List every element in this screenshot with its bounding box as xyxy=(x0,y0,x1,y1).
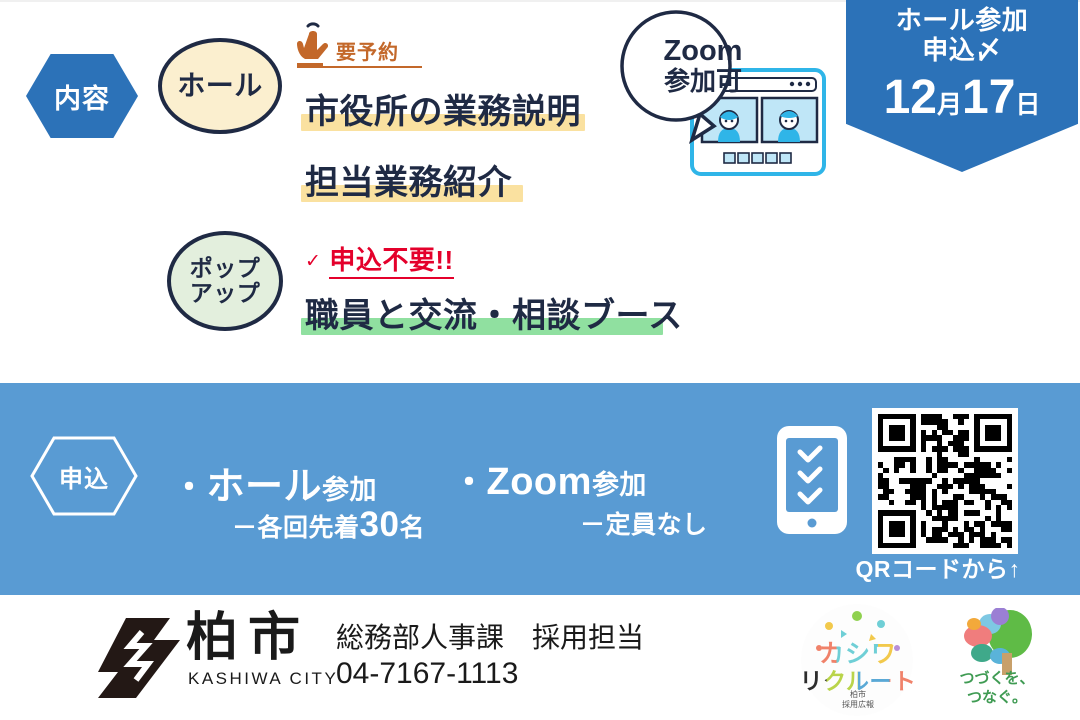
dash-icon: － xyxy=(580,511,606,539)
qr-code[interactable] xyxy=(872,408,1018,554)
content-badge-hexagon: 内容 xyxy=(26,54,138,138)
zoom-bubble-line2: 参加可 xyxy=(648,67,758,95)
apply-hall-main: ホール xyxy=(207,466,323,508)
apply-zoom-suffix: 参加 xyxy=(592,470,647,500)
apply-option-hall: ・ホール参加 xyxy=(172,455,377,510)
hall-headline-2: 担当業務紹介 xyxy=(305,155,512,204)
apply-badge-label: 申込 xyxy=(30,436,138,516)
tsuzuku-caption-line1: つづくを、 xyxy=(938,670,1056,689)
deadline-month-number: 12 xyxy=(884,71,937,124)
qr-code-matrix xyxy=(878,414,1012,548)
tsuzuku-caption: つづくを、 つなぐ。 xyxy=(938,670,1056,708)
contact-telephone: 04-7167-1113 xyxy=(336,655,644,693)
tsuzuku-tsunagu-logo: つづくを、 つなぐ。 xyxy=(938,608,1056,714)
ribbon-date: 12月17日 xyxy=(846,70,1078,125)
hall-label-text: ホール xyxy=(177,71,263,101)
hall-headline-1-text: 市役所の業務説明 xyxy=(305,93,581,131)
apply-option-zoom: ・Zoom参加 xyxy=(452,455,647,504)
ribbon-line2: 申込〆 xyxy=(846,36,1078,66)
reservation-underline xyxy=(316,66,422,68)
bullet-icon: ・ xyxy=(452,464,487,502)
kashiwa-recruit-logo: カシワ リクルート 柏市 採用広報 xyxy=(795,604,921,716)
zoom-illustration: Zoom 参加可 xyxy=(614,8,844,198)
apply-zoom-main: Zoom xyxy=(487,461,592,503)
city-name-jp: 柏市 xyxy=(186,612,338,664)
contact-department: 総務部人事課 採用担当 xyxy=(336,620,644,655)
reservation-required-note: 要予約 xyxy=(294,22,424,74)
flyer-page: 内容 ホール 要予約 市役所の業務説明 担当業務紹介 ポップ アップ ✓ 申込不… xyxy=(0,0,1080,720)
popup-label-line1: ポップ xyxy=(190,256,261,281)
tree-logo-icon xyxy=(938,608,1056,678)
no-application-needed-note: ✓ 申込不要!! xyxy=(305,240,454,277)
popup-headline: 職員と交流・相談ブース xyxy=(305,288,683,337)
hall-headline-1: 市役所の業務説明 xyxy=(305,84,581,133)
city-name-en: KASHIWA CITY xyxy=(188,670,338,687)
apply-zoom-detail-text: 定員なし xyxy=(606,511,708,539)
hall-label-ellipse: ホール xyxy=(158,38,282,134)
kashiwa-city-logo-mark-icon xyxy=(96,616,182,700)
apply-option-hall-detail: －各回先着30名 xyxy=(232,505,425,545)
recruit-logo-sub: 柏市 採用広報 xyxy=(795,690,921,709)
bullet-icon: ・ xyxy=(172,469,207,507)
apply-option-zoom-detail: －定員なし xyxy=(580,505,708,541)
apply-hall-capacity: 30 xyxy=(360,505,400,544)
deadline-month-unit: 月 xyxy=(937,91,962,119)
zoom-bubble-text: Zoom 参加可 xyxy=(648,36,758,95)
deadline-day-unit: 日 xyxy=(1015,91,1040,119)
apply-hall-detail-text: 各回先着 xyxy=(258,514,360,542)
popup-label-line2: アップ xyxy=(190,281,261,306)
dash-icon: － xyxy=(232,514,258,542)
deadline-ribbon: ホール参加 申込〆 12月17日 xyxy=(846,0,1078,172)
ribbon-line1: ホール参加 xyxy=(846,6,1078,36)
footer-contact: 総務部人事課 採用担当 04-7167-1113 xyxy=(336,620,644,693)
reservation-required-label: 要予約 xyxy=(336,36,399,65)
no-application-needed-label: 申込不要!! xyxy=(329,245,453,279)
apply-hall-suffix: 参加 xyxy=(322,475,377,505)
zoom-bubble-line1: Zoom xyxy=(648,36,758,67)
hall-headline-2-text: 担当業務紹介 xyxy=(305,164,512,202)
check-icon: ✓ xyxy=(305,251,321,272)
qr-caption: QRコードから↑ xyxy=(818,550,1058,584)
popup-label-ellipse: ポップ アップ xyxy=(167,231,283,331)
apply-hall-capacity-unit: 名 xyxy=(399,514,425,542)
content-badge-label: 内容 xyxy=(54,77,110,116)
recruit-logo-sub-line1: 柏市 xyxy=(850,690,866,699)
recruit-logo-sub-line2: 採用広報 xyxy=(842,700,874,709)
tsuzuku-caption-line2: つなぐ。 xyxy=(938,689,1056,708)
smartphone-checklist-icon xyxy=(775,424,849,536)
pointing-hand-icon xyxy=(294,22,338,70)
apply-badge-hexagon: 申込 xyxy=(30,436,138,516)
kashiwa-city-wordmark: 柏市 KASHIWA CITY xyxy=(186,612,338,687)
deadline-day-number: 17 xyxy=(962,71,1015,124)
popup-headline-text: 職員と交流・相談ブース xyxy=(305,297,683,335)
